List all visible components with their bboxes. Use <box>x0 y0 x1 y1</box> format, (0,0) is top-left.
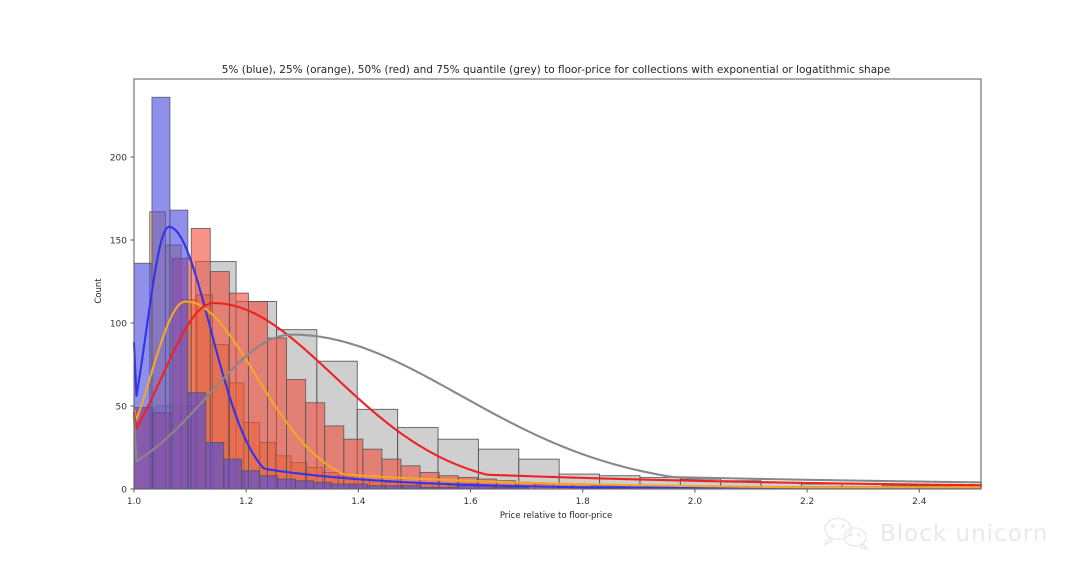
y-tick-label: 100 <box>110 319 127 329</box>
x-tick-label: 1.6 <box>463 497 478 507</box>
y-axis-label: Count <box>94 278 104 304</box>
histogram-bar <box>170 210 188 489</box>
plot-area: 1.01.21.41.61.82.02.22.4 050100150200 <box>110 79 981 507</box>
watermark-label: Block unicorn <box>880 521 1048 547</box>
histogram-bar <box>152 97 170 489</box>
histogram-bar <box>344 439 363 489</box>
x-tick-label: 1.0 <box>127 497 142 507</box>
x-axis-label: Price relative to floor-price <box>500 511 612 521</box>
histogram-bar <box>268 338 287 489</box>
y-tick-label: 50 <box>116 402 128 412</box>
chart-title: 5% (blue), 25% (orange), 50% (red) and 7… <box>222 64 891 76</box>
y-tick-label: 200 <box>110 153 127 163</box>
histogram-bar <box>296 481 314 489</box>
histogram-bar <box>325 426 344 489</box>
chart-figure: 5% (blue), 25% (orange), 50% (red) and 7… <box>0 0 1080 575</box>
histogram-bar <box>242 471 260 489</box>
histogram-bar <box>420 472 439 489</box>
x-tick-label: 2.2 <box>800 497 814 507</box>
histogram-bar <box>363 449 382 489</box>
x-tick-label: 1.2 <box>239 497 253 507</box>
x-tick-label: 2.0 <box>688 497 703 507</box>
x-tick-label: 2.4 <box>912 497 927 507</box>
histogram-bar <box>260 476 278 489</box>
histogram-bar <box>349 484 367 489</box>
histogram-bar <box>224 459 242 489</box>
y-tick-label: 0 <box>121 485 127 495</box>
histogram-bar <box>382 459 401 489</box>
x-tick-label: 1.4 <box>351 497 366 507</box>
histogram-bar <box>314 482 332 489</box>
histogram-bar <box>206 443 224 489</box>
y-tick-label: 150 <box>110 236 127 246</box>
histogram-bar <box>278 479 296 489</box>
histogram-bar <box>331 484 349 489</box>
x-tick-label: 1.8 <box>576 497 591 507</box>
